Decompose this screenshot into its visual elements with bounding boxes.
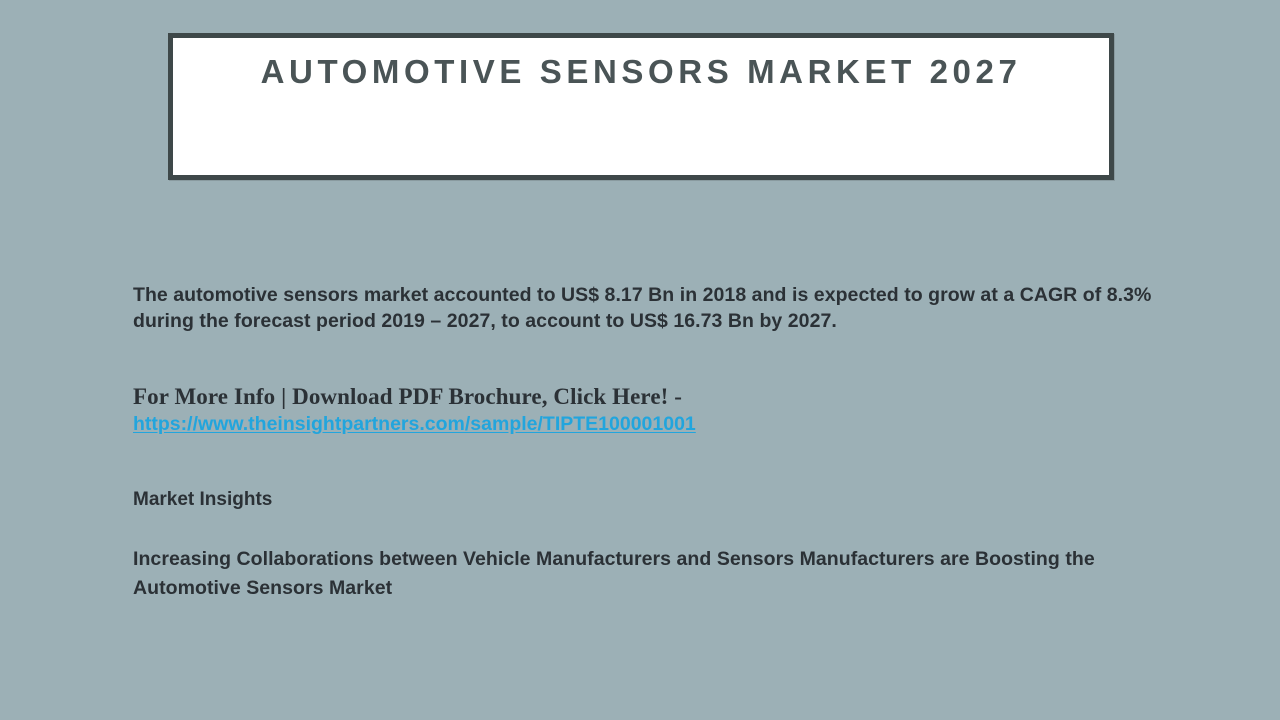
page-title: AUTOMOTIVE SENSORS MARKET 2027 — [173, 52, 1109, 92]
presentation-slide: AUTOMOTIVE SENSORS MARKET 2027 The autom… — [0, 0, 1280, 720]
cta-label: For More Info | Download PDF Brochure, C… — [133, 383, 1223, 411]
insight-paragraph: Increasing Collaborations between Vehicl… — [133, 545, 1143, 603]
intro-paragraph: The automotive sensors market accounted … — [133, 283, 1211, 334]
cta-link-row: https://www.theinsightpartners.com/sampl… — [133, 411, 1223, 439]
spacer — [133, 334, 1223, 383]
spacer — [133, 512, 1223, 545]
section-heading-market-insights: Market Insights — [133, 488, 1223, 512]
brochure-download-link[interactable]: https://www.theinsightpartners.com/sampl… — [133, 413, 696, 435]
title-box: AUTOMOTIVE SENSORS MARKET 2027 — [168, 33, 1114, 180]
spacer — [133, 439, 1223, 488]
slide-body: The automotive sensors market accounted … — [133, 283, 1223, 603]
